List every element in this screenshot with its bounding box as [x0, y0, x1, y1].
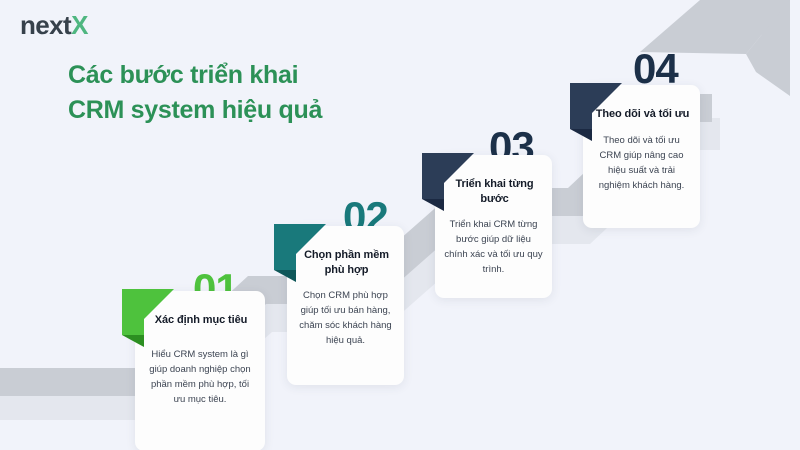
logo-text-accent: X [71, 10, 88, 40]
flag-fold-4 [570, 129, 592, 141]
flag-fold-2 [274, 270, 296, 282]
logo-text-next: next [20, 10, 71, 40]
step-number-4: 04 [633, 48, 678, 90]
flag-fold-3 [422, 199, 444, 211]
step-card-body-4: Theo dõi và tối ưu CRM giúp nâng cao hiệ… [592, 133, 691, 193]
flag-main-1 [122, 289, 174, 335]
page-title-line-2: CRM system hiệu quả [68, 93, 322, 128]
step-flag-2 [274, 224, 326, 282]
page-title-line-1: Các bước triển khai [68, 58, 322, 93]
flag-fold-1 [122, 335, 144, 347]
page-title: Các bước triển khai CRM system hiệu quả [68, 58, 322, 127]
flag-main-2 [274, 224, 326, 270]
infographic-canvas: nextX Các bước triển khai CRM system hiệ… [0, 0, 800, 450]
flag-main-3 [422, 153, 474, 199]
step-card-body-3: Triển khai CRM từng bước giúp dữ liệu ch… [444, 217, 543, 277]
step-flag-1 [122, 289, 174, 347]
step-flag-4 [570, 83, 622, 141]
step-flag-3 [422, 153, 474, 211]
brand-logo[interactable]: nextX [20, 12, 88, 38]
flag-main-4 [570, 83, 622, 129]
step-card-body-2: Chọn CRM phù hợp giúp tối ưu bán hàng, c… [296, 288, 395, 348]
step-card-body-1: Hiểu CRM system là gì giúp doanh nghiệp … [144, 347, 256, 407]
